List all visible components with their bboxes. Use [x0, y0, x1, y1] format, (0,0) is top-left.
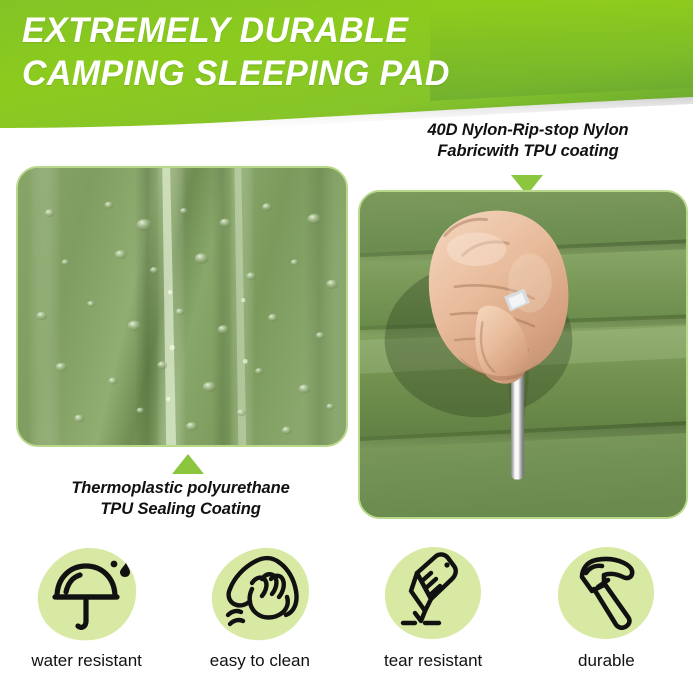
header-banner: EXTREMELY DURABLE CAMPING SLEEPING PAD [0, 0, 693, 128]
hand-wiping-cloth-icon [208, 545, 312, 643]
photo-hand-with-tool [358, 190, 688, 519]
umbrella-rain-icon [35, 545, 139, 643]
product-infographic: EXTREMELY DURABLE CAMPING SLEEPING PAD 4… [0, 0, 693, 687]
photo-water-beading-fabric [16, 166, 348, 447]
header-title-line-2: CAMPING SLEEPING PAD [22, 52, 643, 95]
feature-label-tear-resistant: tear resistant [384, 651, 482, 671]
triangle-up-icon [172, 454, 204, 474]
callout-tpu-line-2: TPU Sealing Coating [8, 499, 353, 520]
feature-easy-to-clean: easy to clean [173, 545, 346, 671]
feature-durable: durable [520, 545, 693, 671]
feature-label-easy-to-clean: easy to clean [210, 651, 310, 671]
callout-nylon-line-1: 40D Nylon-Rip-stop Nylon [372, 120, 684, 141]
header-title-line-1: EXTREMELY DURABLE [22, 9, 643, 52]
box-cutter-icon [381, 545, 485, 643]
feature-label-durable: durable [578, 651, 635, 671]
feature-water-resistant: water resistant [0, 545, 173, 671]
feature-label-water-resistant: water resistant [31, 651, 142, 671]
hammer-icon [554, 545, 658, 643]
photo-hand-with-tool-svg [360, 192, 686, 517]
callout-tpu-coating: Thermoplastic polyurethane TPU Sealing C… [8, 478, 353, 520]
feature-list: water resistant [0, 545, 693, 687]
callout-tpu-line-1: Thermoplastic polyurethane [8, 478, 353, 499]
callout-nylon-line-2: Fabricwith TPU coating [372, 141, 684, 162]
header-title-block: EXTREMELY DURABLE CAMPING SLEEPING PAD [22, 9, 662, 95]
feature-tear-resistant: tear resistant [347, 545, 520, 671]
callout-nylon-fabric: 40D Nylon-Rip-stop Nylon Fabricwith TPU … [372, 120, 684, 162]
photo-water-beading-svg [18, 168, 346, 445]
